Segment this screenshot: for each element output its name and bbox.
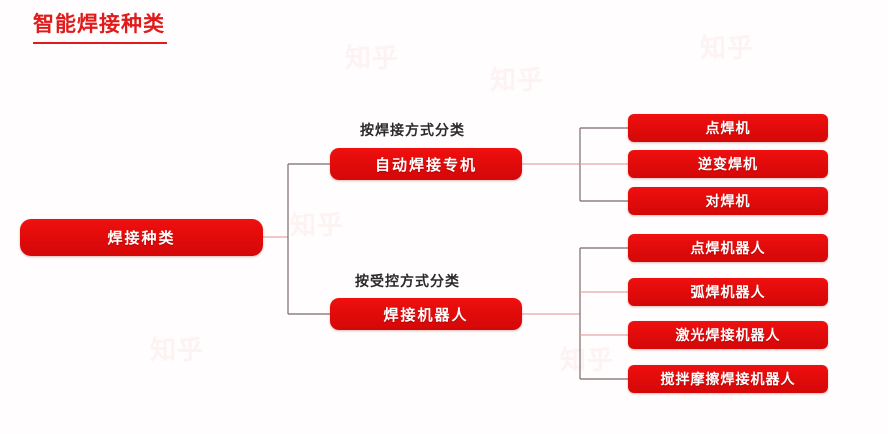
node-root[interactable]: 焊接种类 [20, 219, 263, 256]
leaf-label: 点焊机器人 [691, 238, 766, 258]
leaf-label: 点焊机 [706, 118, 751, 138]
diagram-canvas: 知乎 知乎 知乎 知乎 知乎 知乎 智能焊接种类 [0, 0, 888, 434]
watermark: 知乎 [700, 28, 754, 65]
node-label: 自动焊接专机 [375, 154, 477, 175]
leaf-node[interactable]: 激光焊接机器人 [628, 321, 828, 349]
leaf-label: 激光焊接机器人 [676, 325, 781, 345]
watermark: 知乎 [150, 330, 204, 367]
node-automatic-welding-machine[interactable]: 自动焊接专机 [330, 148, 522, 180]
leaf-label: 搅拌摩擦焊接机器人 [661, 369, 796, 389]
watermark: 知乎 [345, 38, 399, 75]
watermark: 知乎 [290, 205, 344, 242]
branch-caption-control-method: 按受控方式分类 [355, 271, 460, 291]
node-root-label: 焊接种类 [107, 227, 175, 248]
leaf-label: 对焊机 [706, 191, 751, 211]
page-title: 智能焊接种类 [33, 8, 165, 38]
leaf-label: 弧焊机器人 [691, 282, 766, 302]
branch-caption-welding-method: 按焊接方式分类 [360, 120, 465, 140]
leaf-node[interactable]: 对焊机 [628, 187, 828, 215]
leaf-node[interactable]: 搅拌摩擦焊接机器人 [628, 365, 828, 393]
leaf-label: 逆变焊机 [698, 154, 758, 174]
leaf-node[interactable]: 逆变焊机 [628, 150, 828, 178]
node-label: 焊接机器人 [383, 304, 468, 325]
leaf-node[interactable]: 点焊机器人 [628, 234, 828, 262]
leaf-node[interactable]: 点焊机 [628, 114, 828, 142]
watermark: 知乎 [560, 340, 614, 377]
leaf-node[interactable]: 弧焊机器人 [628, 278, 828, 306]
node-welding-robot[interactable]: 焊接机器人 [330, 298, 522, 330]
watermark: 知乎 [490, 60, 544, 97]
